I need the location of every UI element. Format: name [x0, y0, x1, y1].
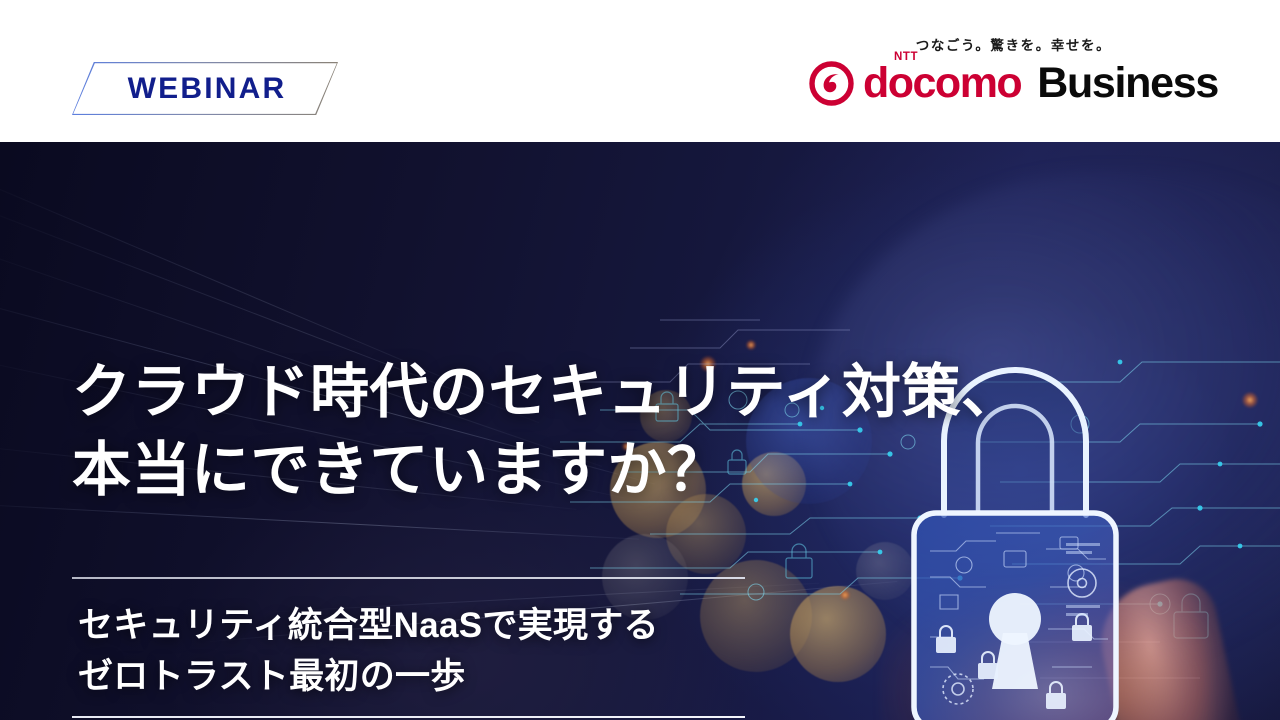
docomo-tagline: つなごう。驚きを。幸せを。 — [916, 34, 1112, 54]
business-wordmark: Business — [1037, 62, 1218, 105]
headline-line-1: クラウド時代のセキュリティ対策、 — [72, 354, 1020, 432]
headline-line-2: 本当にできていますか？ — [72, 432, 1020, 510]
headline: クラウド時代のセキュリティ対策、 本当にできていますか？ — [72, 354, 1020, 510]
webinar-badge: WEBINAR — [72, 62, 338, 115]
webinar-banner: WEBINAR つなごう。驚きを。幸せを。 NTT docomo Busines… — [0, 0, 1280, 720]
docomo-text: docomo — [863, 59, 1021, 107]
webinar-badge-label: WEBINAR — [72, 62, 338, 115]
subheadline-line-1: セキュリティ統合型NaaSで実現する — [78, 600, 659, 651]
docomo-wordmark: NTT docomo — [863, 62, 1021, 105]
subheadline-line-2: ゼロトラスト最初の一歩 — [78, 651, 659, 702]
header-bar: WEBINAR つなごう。驚きを。幸せを。 NTT docomo Busines… — [0, 0, 1280, 142]
ntt-wordmark: NTT — [894, 52, 918, 64]
hero-artwork: クラウド時代のセキュリティ対策、 本当にできていますか？ セキュリティ統合型Na… — [0, 142, 1280, 720]
divider-top — [72, 577, 745, 579]
subheadline: セキュリティ統合型NaaSで実現する ゼロトラスト最初の一歩 — [78, 600, 659, 702]
docomo-circle-mark-icon — [809, 61, 854, 106]
docomo-business-logo: つなごう。驚きを。幸せを。 NTT docomo Business — [809, 34, 1218, 106]
divider-bottom — [72, 716, 745, 718]
docomo-logo-row: NTT docomo Business — [809, 61, 1218, 106]
